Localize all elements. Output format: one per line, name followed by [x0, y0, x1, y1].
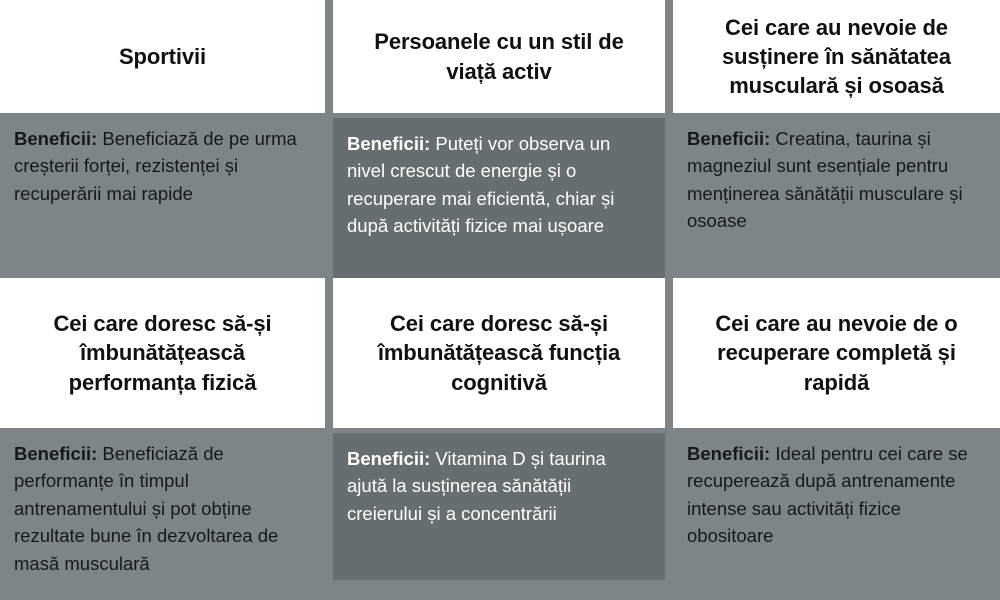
benefit-body: Beneficii: Vitamina D și taurina ajută l…: [347, 445, 651, 527]
benefit-card-sanatate-musculara-osoasa: Beneficii: Creatina, taurina și magneziu…: [673, 113, 1000, 278]
benefit-label: Beneficii:: [687, 128, 770, 149]
benefit-card-sportivii: Beneficii: Beneficiază de pe urma crește…: [0, 113, 325, 278]
title-text: Cei care doresc să-și îmbunătățească fun…: [347, 309, 651, 396]
title-text: Persoanele cu un stil de viață activ: [347, 27, 651, 85]
benefit-label: Beneficii:: [687, 443, 770, 464]
benefit-label: Beneficii:: [14, 443, 97, 464]
benefit-label: Beneficii:: [14, 128, 97, 149]
title-card-recuperare-completa: Cei care au nevoie de o recuperare compl…: [673, 278, 1000, 428]
title-card-sportivii: Sportivii: [0, 0, 325, 113]
benefit-card-recuperare-completa: Beneficii: Ideal pentru cei care se recu…: [673, 428, 1000, 600]
title-card-stil-de-viata-activ: Persoanele cu un stil de viață activ: [333, 0, 665, 113]
title-text: Sportivii: [119, 42, 206, 71]
benefit-card-functia-cognitiva: Beneficii: Vitamina D și taurina ajută l…: [333, 433, 665, 580]
title-card-performanta-fizica: Cei care doresc să-și îmbunătățească per…: [0, 278, 325, 428]
benefit-card-stil-de-viata-activ: Beneficii: Puteți vor observa un nivel c…: [333, 118, 665, 278]
benefit-card-performanta-fizica: Beneficii: Beneficiază de performanțe în…: [0, 428, 325, 600]
benefit-label: Beneficii:: [347, 448, 430, 469]
title-text: Cei care au nevoie de susținere în sănăt…: [687, 13, 986, 100]
benefit-body: Beneficii: Beneficiază de performanțe în…: [14, 440, 311, 577]
title-card-sanatate-musculara-osoasa: Cei care au nevoie de susținere în sănăt…: [673, 0, 1000, 113]
title-text: Cei care doresc să-și îmbunătățească per…: [14, 309, 311, 396]
title-text: Cei care au nevoie de o recuperare compl…: [687, 309, 986, 396]
benefits-grid: Sportivii Persoanele cu un stil de viață…: [0, 0, 1000, 600]
benefit-body: Beneficii: Ideal pentru cei care se recu…: [687, 440, 986, 550]
benefit-body: Beneficii: Beneficiază de pe urma crește…: [14, 125, 311, 207]
benefit-label: Beneficii:: [347, 133, 430, 154]
title-card-functia-cognitiva: Cei care doresc să-și îmbunătățească fun…: [333, 278, 665, 428]
benefit-body: Beneficii: Puteți vor observa un nivel c…: [347, 130, 651, 240]
benefit-body: Beneficii: Creatina, taurina și magneziu…: [687, 125, 986, 235]
